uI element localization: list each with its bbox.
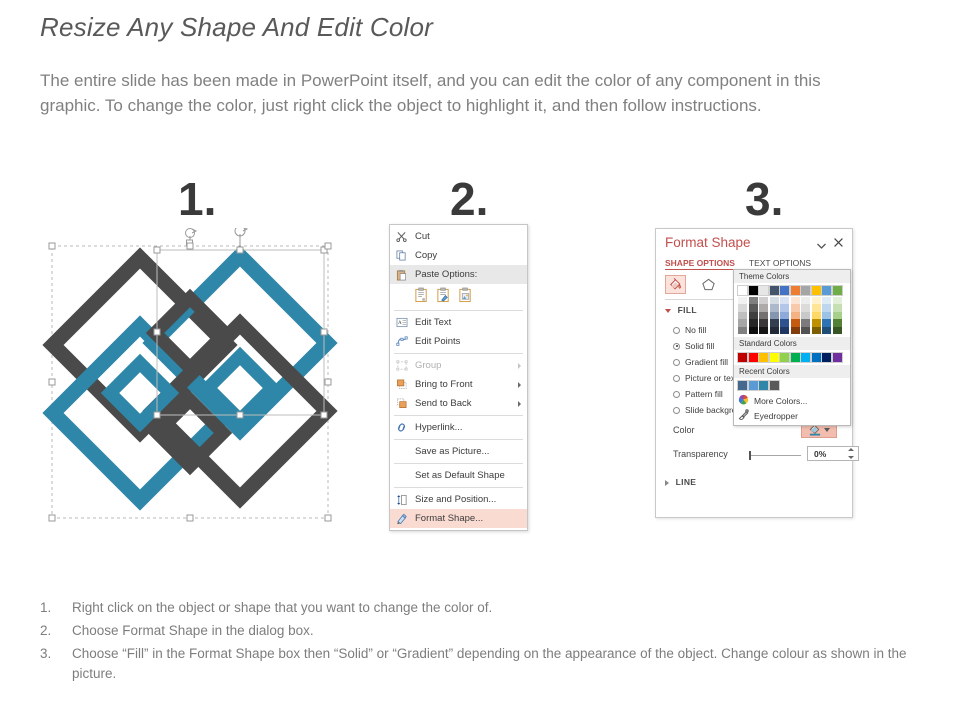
instruction-text: Right click on the object or shape that … (72, 598, 940, 618)
theme-color-swatch[interactable] (738, 319, 747, 327)
context-menu-label: Cut (410, 231, 430, 242)
theme-color-swatch[interactable] (759, 327, 768, 335)
shape-graphic-panel (40, 228, 340, 526)
transparency-input[interactable]: 0% (807, 446, 859, 461)
triangle-right-icon (665, 480, 669, 486)
page-title: Resize Any Shape And Edit Color (40, 12, 433, 43)
color-label: Color (673, 425, 695, 435)
theme-color-swatch[interactable] (791, 297, 800, 305)
theme-color-column-4[interactable] (780, 286, 789, 334)
context-menu-label: Save as Picture... (410, 446, 489, 457)
standard-color-swatch[interactable] (801, 353, 810, 362)
theme-color-swatch[interactable] (791, 312, 800, 320)
group-icon (393, 358, 410, 373)
theme-color-swatch[interactable] (738, 286, 747, 295)
format-shape-icon (393, 511, 410, 526)
theme-colors-grid[interactable] (734, 283, 850, 334)
spinner-up-icon[interactable] (848, 448, 854, 451)
standard-color-swatch[interactable] (791, 353, 800, 362)
theme-color-swatch[interactable] (770, 286, 779, 295)
theme-color-column-8[interactable] (822, 286, 831, 334)
recent-color-swatch[interactable] (738, 381, 747, 390)
copy-icon (393, 248, 410, 263)
fill-section-header[interactable]: FILL (665, 305, 697, 315)
theme-color-swatch[interactable] (801, 286, 810, 295)
theme-color-swatch[interactable] (749, 312, 758, 320)
paste-picture-icon[interactable] (458, 287, 473, 305)
theme-color-swatch[interactable] (833, 319, 842, 327)
menu-separator (394, 415, 523, 416)
triangle-down-icon (665, 309, 671, 313)
theme-color-swatch[interactable] (833, 286, 842, 295)
transparency-row: Transparency 0% (673, 449, 848, 459)
radio-icon (673, 407, 680, 414)
standard-color-swatch[interactable] (833, 353, 842, 362)
theme-color-swatch[interactable] (749, 319, 758, 327)
hyperlink-icon (393, 420, 410, 435)
theme-color-swatch[interactable] (791, 304, 800, 312)
theme-color-swatch[interactable] (822, 297, 831, 305)
theme-color-swatch[interactable] (822, 286, 831, 295)
instruction-text: Choose Format Shape in the dialog box. (72, 621, 940, 641)
eyedropper-label: Eyedropper (754, 411, 798, 421)
context-menu-item-size-and-position[interactable]: Size and Position... (390, 490, 527, 509)
theme-color-swatch[interactable] (801, 327, 810, 335)
menu-separator (394, 463, 523, 464)
standard-color-swatch[interactable] (738, 353, 747, 362)
theme-color-swatch[interactable] (759, 312, 768, 320)
slider-knob[interactable] (749, 451, 751, 460)
recent-color-swatch[interactable] (770, 381, 779, 390)
step-number-1: 1. (178, 176, 216, 222)
radio-icon-selected (673, 343, 680, 350)
standard-color-swatch[interactable] (759, 353, 768, 362)
context-menu-item-save-as-picture[interactable]: Save as Picture... (390, 442, 527, 461)
theme-color-column-9[interactable] (833, 286, 842, 334)
fill-option-label: Solid fill (685, 341, 714, 351)
line-section-header[interactable]: LINE (665, 477, 696, 487)
eyedropper-icon (738, 409, 749, 422)
fill-option-label: No fill (685, 325, 706, 335)
context-menu-label: Size and Position... (410, 494, 496, 505)
theme-colors-header: Theme Colors (734, 270, 850, 283)
theme-color-swatch[interactable] (822, 319, 831, 327)
recent-color-swatch[interactable] (759, 381, 768, 390)
standard-color-swatch[interactable] (812, 353, 821, 362)
menu-separator (394, 487, 523, 488)
theme-color-swatch[interactable] (780, 286, 789, 295)
theme-color-swatch[interactable] (812, 297, 821, 305)
standard-color-swatch[interactable] (749, 353, 758, 362)
theme-color-swatch[interactable] (770, 304, 779, 312)
context-menu-item-format-shape[interactable]: Format Shape... (390, 509, 527, 528)
theme-color-swatch[interactable] (822, 327, 831, 335)
format-shape-title: Format Shape (665, 235, 751, 250)
theme-color-swatch[interactable] (791, 286, 800, 295)
context-menu-label: Bring to Front (410, 379, 473, 390)
theme-color-swatch[interactable] (801, 319, 810, 327)
size-position-icon (393, 492, 410, 507)
context-menu-label: Paste Options: (410, 269, 477, 280)
color-wheel-icon (738, 394, 749, 407)
line-section-label: LINE (676, 477, 697, 487)
color-row: Color (673, 425, 843, 435)
context-menu-label: Set as Default Shape (410, 470, 505, 481)
standard-color-swatch[interactable] (770, 353, 779, 362)
send-back-icon (393, 396, 410, 411)
transparency-label: Transparency (673, 449, 728, 459)
spinner-down-icon[interactable] (848, 456, 854, 459)
theme-color-column-5[interactable] (791, 286, 800, 334)
theme-color-column-0[interactable] (738, 286, 747, 334)
intro-paragraph: The entire slide has been made in PowerP… (40, 68, 870, 118)
theme-color-swatch[interactable] (812, 286, 821, 295)
paste-keep-text-icon[interactable]: a (414, 287, 429, 305)
instruction-number: 2. (40, 621, 72, 641)
theme-color-swatch[interactable] (770, 319, 779, 327)
submenu-arrow-icon (518, 382, 521, 388)
radio-icon (673, 391, 680, 398)
theme-color-column-1[interactable] (749, 286, 758, 334)
theme-color-swatch[interactable] (749, 297, 758, 305)
step-number-3: 3. (745, 176, 783, 222)
menu-separator (394, 439, 523, 440)
none-icon (393, 468, 410, 483)
instruction-number: 3. (40, 644, 72, 684)
transparency-slider[interactable] (751, 455, 801, 456)
theme-color-swatch[interactable] (833, 312, 842, 320)
context-menu-item-hyperlink[interactable]: Hyperlink... (390, 418, 527, 437)
instructions-list: 1. Right click on the object or shape th… (40, 598, 940, 687)
theme-color-swatch[interactable] (738, 297, 747, 305)
instruction-row: 1. Right click on the object or shape th… (40, 598, 940, 618)
svg-text:A: A (398, 320, 402, 326)
context-menu-label: Hyperlink... (410, 422, 463, 433)
theme-color-swatch[interactable] (749, 304, 758, 312)
theme-color-swatch[interactable] (812, 304, 821, 312)
step-number-2: 2. (450, 176, 488, 222)
standard-colors-header: Standard Colors (734, 337, 850, 350)
none-icon (393, 444, 410, 459)
radio-icon (673, 327, 680, 334)
instruction-number: 1. (40, 598, 72, 618)
standard-color-swatch[interactable] (780, 353, 789, 362)
context-menu-item-set-default-shape[interactable]: Set as Default Shape (390, 466, 527, 485)
theme-color-swatch[interactable] (812, 319, 821, 327)
theme-color-swatch[interactable] (780, 327, 789, 335)
context-menu-label: Edit Text (410, 317, 451, 328)
theme-color-swatch[interactable] (780, 312, 789, 320)
theme-color-swatch[interactable] (759, 297, 768, 305)
paste-options-row[interactable]: a (390, 284, 527, 308)
edit-text-icon: A (393, 315, 410, 330)
context-menu-label: Group (410, 360, 441, 371)
pentagon-shape-icon[interactable] (698, 275, 719, 294)
paste-keep-formatting-icon[interactable] (436, 287, 451, 305)
tab-shape-options[interactable]: SHAPE OPTIONS (665, 258, 735, 270)
theme-color-swatch[interactable] (833, 327, 842, 335)
theme-color-swatch[interactable] (801, 304, 810, 312)
context-menu-item-group: Group (390, 356, 527, 375)
more-colors-option[interactable]: More Colors... (734, 393, 850, 408)
transparency-value: 0% (814, 449, 826, 459)
radio-icon (673, 359, 680, 366)
theme-color-swatch[interactable] (801, 312, 810, 320)
theme-color-swatch[interactable] (759, 319, 768, 327)
paint-bucket-icon[interactable] (665, 275, 686, 294)
instruction-text: Choose “Fill” in the Format Shape box th… (72, 644, 940, 684)
context-menu-item-copy[interactable]: Copy (390, 246, 527, 265)
chevron-down-icon[interactable] (824, 428, 830, 432)
fill-option-label: Pattern fill (685, 389, 723, 399)
theme-color-swatch[interactable] (833, 304, 842, 312)
theme-color-swatch[interactable] (780, 319, 789, 327)
theme-color-swatch[interactable] (738, 327, 747, 335)
context-menu[interactable]: Cut Copy Paste Options: a A Edit Text (389, 224, 528, 531)
more-colors-label: More Colors... (754, 396, 807, 406)
color-picker-flyout[interactable]: Theme Colors Standard Colors Recent Colo… (733, 269, 851, 426)
bring-front-icon (393, 377, 410, 392)
standard-color-swatch[interactable] (822, 353, 831, 362)
theme-color-column-3[interactable] (770, 286, 779, 334)
spinner-buttons[interactable] (848, 448, 857, 459)
context-menu-item-edit-text[interactable]: A Edit Text (390, 313, 527, 332)
theme-color-swatch[interactable] (738, 312, 747, 320)
theme-color-swatch[interactable] (749, 286, 758, 295)
fill-option-label: Gradient fill (685, 357, 728, 367)
edit-points-icon (393, 334, 410, 349)
clipboard-icon (393, 267, 410, 282)
theme-color-swatch[interactable] (749, 327, 758, 335)
theme-color-swatch[interactable] (791, 319, 800, 327)
theme-color-swatch[interactable] (770, 327, 779, 335)
context-menu-item-edit-points[interactable]: Edit Points (390, 332, 527, 351)
instruction-row: 2. Choose Format Shape in the dialog box… (40, 621, 940, 641)
context-menu-item-cut[interactable]: Cut (390, 227, 527, 246)
theme-color-swatch[interactable] (738, 304, 747, 312)
theme-color-column-6[interactable] (801, 286, 810, 334)
instruction-row: 3. Choose “Fill” in the Format Shape box… (40, 644, 940, 684)
scissors-icon (393, 229, 410, 244)
standard-colors-row[interactable] (734, 350, 850, 365)
theme-color-swatch[interactable] (780, 304, 789, 312)
recent-colors-header: Recent Colors (734, 365, 850, 378)
context-menu-label: Format Shape... (410, 513, 483, 524)
theme-color-swatch[interactable] (770, 297, 779, 305)
theme-color-swatch[interactable] (833, 297, 842, 305)
fill-section-label: FILL (678, 305, 697, 315)
theme-color-swatch[interactable] (759, 286, 768, 295)
submenu-arrow-icon (518, 363, 521, 369)
theme-color-swatch[interactable] (759, 304, 768, 312)
theme-color-swatch[interactable] (822, 312, 831, 320)
submenu-arrow-icon (518, 401, 521, 407)
theme-color-swatch[interactable] (780, 297, 789, 305)
theme-color-column-2[interactable] (759, 286, 768, 334)
radio-icon (673, 375, 680, 382)
theme-color-swatch[interactable] (801, 297, 810, 305)
theme-color-swatch[interactable] (812, 327, 821, 335)
theme-color-swatch[interactable] (812, 312, 821, 320)
theme-color-swatch[interactable] (770, 312, 779, 320)
menu-separator (394, 310, 523, 311)
interlocking-diamonds-graphic[interactable] (40, 228, 340, 526)
close-icon[interactable] (834, 238, 843, 250)
recent-color-swatch[interactable] (749, 381, 758, 390)
context-menu-item-send-to-back[interactable]: Send to Back (390, 394, 527, 413)
menu-separator (394, 353, 523, 354)
chevron-down-icon[interactable] (817, 241, 826, 252)
context-menu-label: Edit Points (410, 336, 460, 347)
context-menu-label: Copy (410, 250, 437, 261)
context-menu-item-paste-options: Paste Options: (390, 265, 527, 284)
theme-color-swatch[interactable] (822, 304, 831, 312)
theme-color-swatch[interactable] (791, 327, 800, 335)
eyedropper-option[interactable]: Eyedropper (734, 408, 850, 423)
context-menu-label: Send to Back (410, 398, 472, 409)
theme-color-column-7[interactable] (812, 286, 821, 334)
context-menu-item-bring-to-front[interactable]: Bring to Front (390, 375, 527, 394)
recent-colors-row[interactable] (734, 378, 850, 393)
